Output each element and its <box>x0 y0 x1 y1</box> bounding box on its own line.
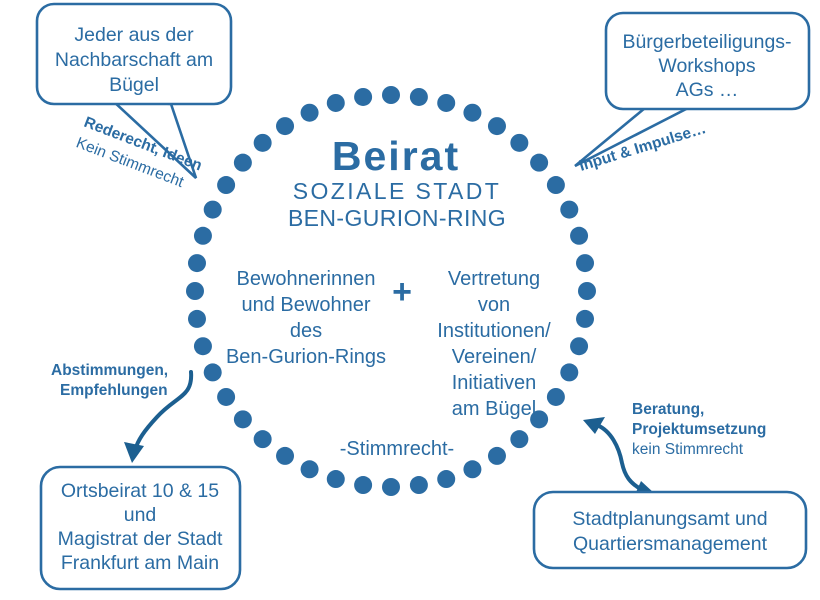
bubble-top-right[interactable]: Bürgerbeteiligungs- Workshops AGs … <box>575 13 809 166</box>
label-bottom-left-line-1: Abstimmungen, <box>51 362 168 379</box>
box-bottom-left-line-3: Magistrat der Stadt <box>58 528 223 550</box>
center-footer-note: -Stimmrecht- <box>340 438 454 460</box>
ring-dot <box>194 227 212 245</box>
ring-dot <box>530 154 548 172</box>
ring-dot <box>570 227 588 245</box>
ring-dot <box>510 430 528 448</box>
ring-dot <box>488 117 506 135</box>
bubble-top-right-line-1: Bürgerbeteiligungs- <box>622 31 791 53</box>
ring-dot <box>547 388 565 406</box>
ring-dot <box>354 88 372 106</box>
center-left-line-2: und Bewohner <box>242 294 371 316</box>
ring-dot <box>382 478 400 496</box>
ring-dot <box>463 104 481 122</box>
ring-dot <box>410 476 428 494</box>
ring-dot <box>327 470 345 488</box>
center-right-line-2: von <box>478 294 510 316</box>
ring-dot <box>204 363 222 381</box>
ring-dot <box>463 460 481 478</box>
arrow-bottom-left-head <box>124 442 144 463</box>
ring-dot <box>560 363 578 381</box>
ring-dot <box>410 88 428 106</box>
center-right-line-3: Institutionen/ <box>437 320 551 342</box>
ring-dot <box>510 134 528 152</box>
center-left-line-1: Bewohnerinnen <box>237 268 376 290</box>
bubble-top-left-line-1: Jeder aus der <box>74 24 194 46</box>
center-right-line-1: Vertretung <box>448 268 540 290</box>
ring-dot <box>301 460 319 478</box>
ring-dot <box>188 254 206 272</box>
ring-dot <box>488 447 506 465</box>
ring-dot <box>188 310 206 328</box>
bubble-top-left-line-3: Bügel <box>109 74 159 96</box>
bubble-top-right-line-3: AGs … <box>676 79 739 101</box>
box-bottom-left[interactable]: Ortsbeirat 10 & 15 und Magistrat der Sta… <box>41 467 240 589</box>
center-right-line-4: Vereinen/ <box>452 346 537 368</box>
ring-dot <box>547 176 565 194</box>
bubble-top-left-line-2: Nachbarschaft am <box>55 49 213 71</box>
label-bottom-left: Abstimmungen, Empfehlungen <box>51 362 168 399</box>
center-title: Beirat <box>332 133 460 179</box>
ring-dot <box>186 282 204 300</box>
label-bottom-right-line-3: kein Stimmrecht <box>632 441 744 458</box>
plus-symbol: + <box>392 273 412 311</box>
box-bottom-right-body <box>534 492 806 568</box>
label-bottom-left-line-2: Empfehlungen <box>60 382 168 399</box>
label-bottom-right: Beratung, Projektumsetzung kein Stimmrec… <box>632 401 766 458</box>
ring-dot <box>354 476 372 494</box>
ring-dot <box>576 254 594 272</box>
ring-dot <box>570 337 588 355</box>
ring-dot <box>437 470 455 488</box>
box-bottom-left-line-2: und <box>124 504 157 526</box>
ring-dot <box>382 86 400 104</box>
diagram-svg: Jeder aus der Nachbarschaft am Bügel Red… <box>0 0 820 600</box>
ring-dot <box>254 134 272 152</box>
box-bottom-right-line-2: Quartiersmanagement <box>573 533 768 555</box>
ring-dot <box>194 337 212 355</box>
ring-dot <box>234 154 252 172</box>
label-bottom-right-line-1: Beratung, <box>632 401 704 418</box>
bubble-top-left[interactable]: Jeder aus der Nachbarschaft am Bügel <box>37 4 231 178</box>
ring-dot <box>234 410 252 428</box>
bubble-top-right-line-2: Workshops <box>658 55 755 77</box>
center-content: Beirat SOZIALE STADT BEN-GURION-RING + B… <box>226 133 551 460</box>
ring-dot <box>578 282 596 300</box>
center-subtitle-line-2: BEN-GURION-RING <box>288 205 506 231</box>
box-bottom-left-line-1: Ortsbeirat 10 & 15 <box>61 480 219 502</box>
box-bottom-right-line-1: Stadtplanungsamt und <box>572 508 767 530</box>
center-left-line-4: Ben-Gurion-Rings <box>226 346 386 368</box>
ring-dot <box>254 430 272 448</box>
box-bottom-left-line-4: Frankfurt am Main <box>61 552 219 574</box>
ring-dot <box>217 388 235 406</box>
ring-dot <box>204 201 222 219</box>
ring-dot <box>217 176 235 194</box>
center-subtitle-line-1: SOZIALE STADT <box>293 178 501 204</box>
ring-dot <box>276 117 294 135</box>
ring-dot <box>437 94 455 112</box>
box-bottom-right[interactable]: Stadtplanungsamt und Quartiersmanagement <box>534 492 806 568</box>
ring-dot <box>276 447 294 465</box>
center-left-line-3: des <box>290 320 322 342</box>
ring-dot <box>576 310 594 328</box>
ring-dot <box>560 201 578 219</box>
label-bottom-right-line-2: Projektumsetzung <box>632 421 766 438</box>
diagram-canvas: Jeder aus der Nachbarschaft am Bügel Red… <box>0 0 820 600</box>
center-right-line-6: am Bügel <box>452 398 537 420</box>
center-right-line-5: Initiativen <box>452 372 537 394</box>
ring-dot <box>301 104 319 122</box>
ring-dot <box>327 94 345 112</box>
